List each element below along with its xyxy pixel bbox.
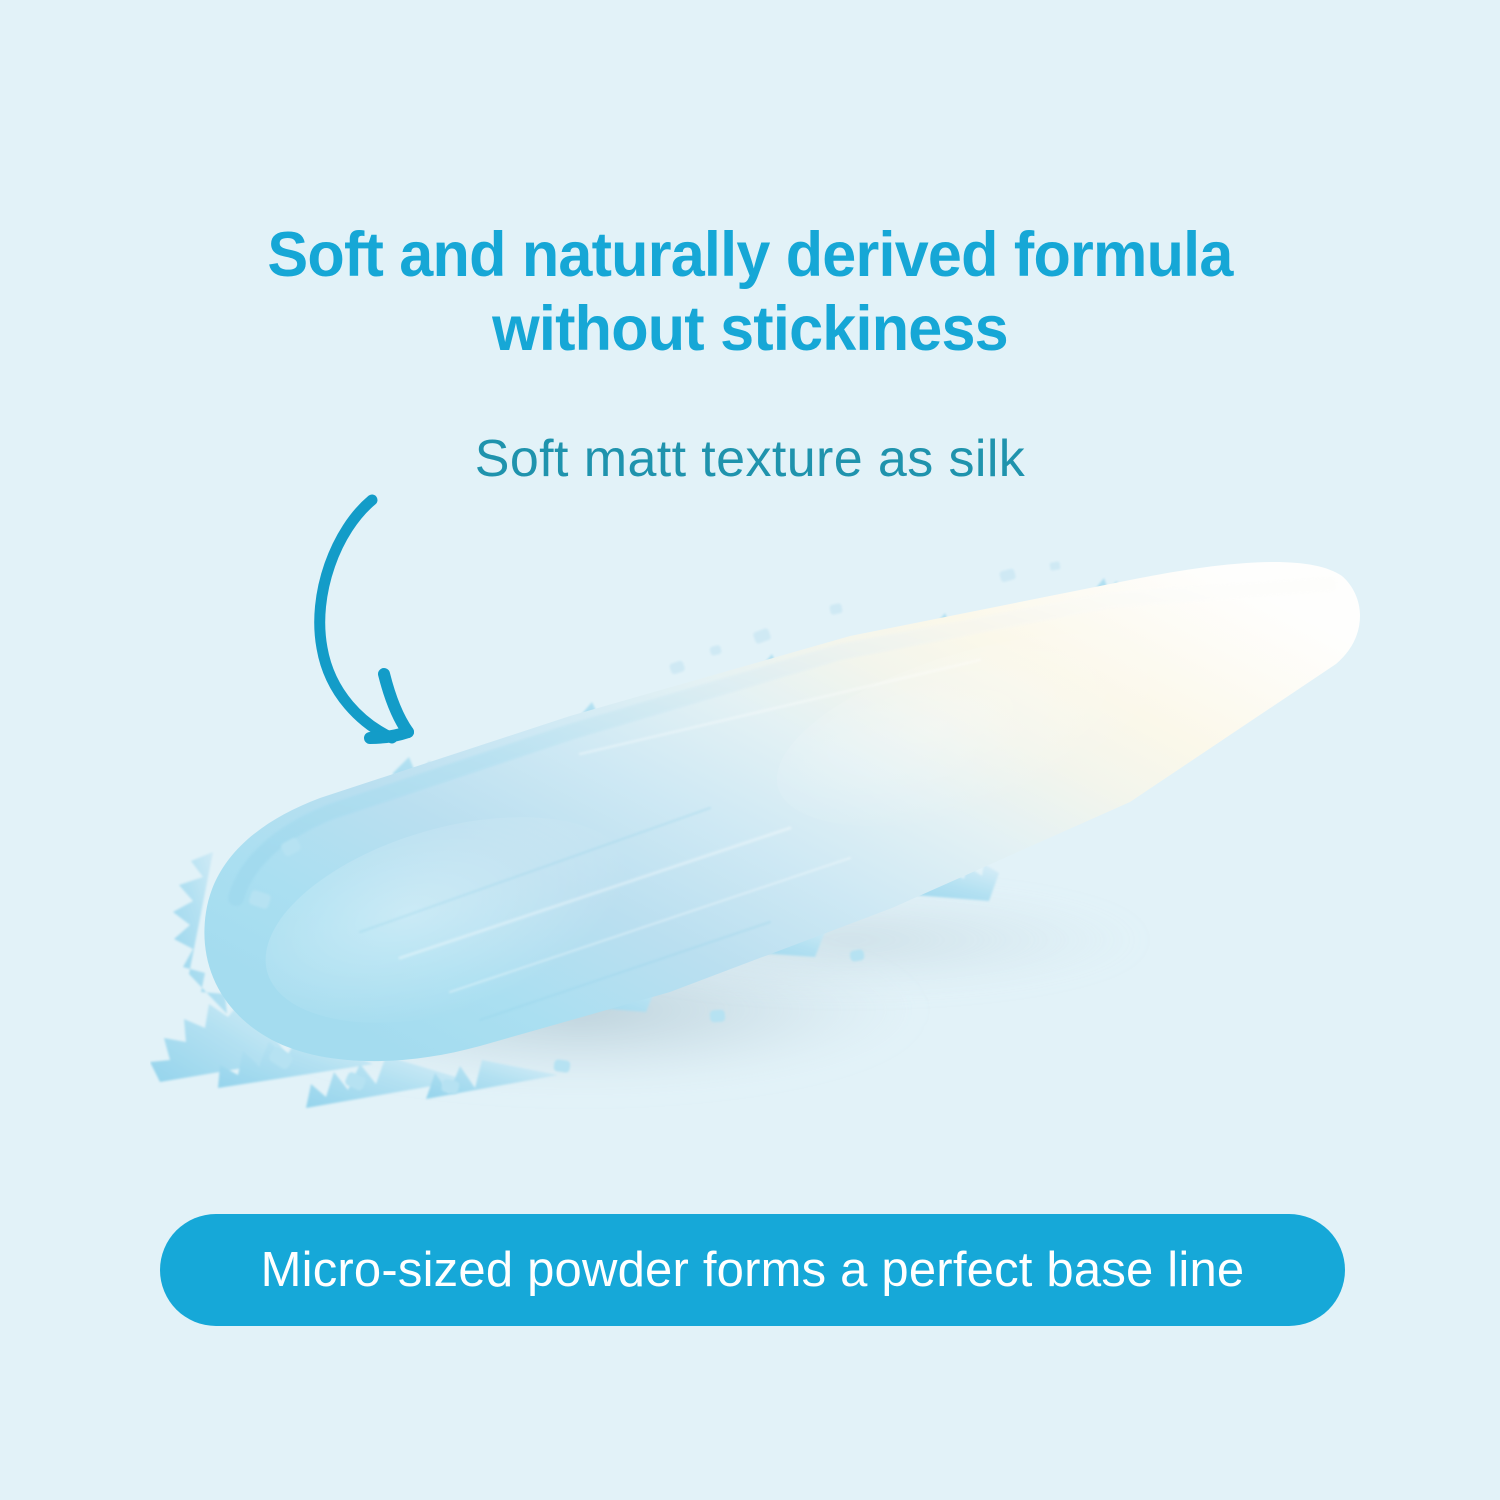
product-feature-card: Soft and naturally derived formula witho… xyxy=(0,0,1500,1500)
callout-label: Soft matt texture as silk xyxy=(0,428,1500,490)
cream-powder-smear xyxy=(150,540,1380,1120)
bottom-banner: Micro-sized powder forms a perfect base … xyxy=(160,1214,1345,1326)
bottom-banner-text: Micro-sized powder forms a perfect base … xyxy=(261,1246,1245,1295)
page-title: Soft and naturally derived formula witho… xyxy=(23,218,1478,366)
headline-line-1: Soft and naturally derived formula xyxy=(23,218,1478,292)
headline-line-2: without stickiness xyxy=(23,292,1478,366)
